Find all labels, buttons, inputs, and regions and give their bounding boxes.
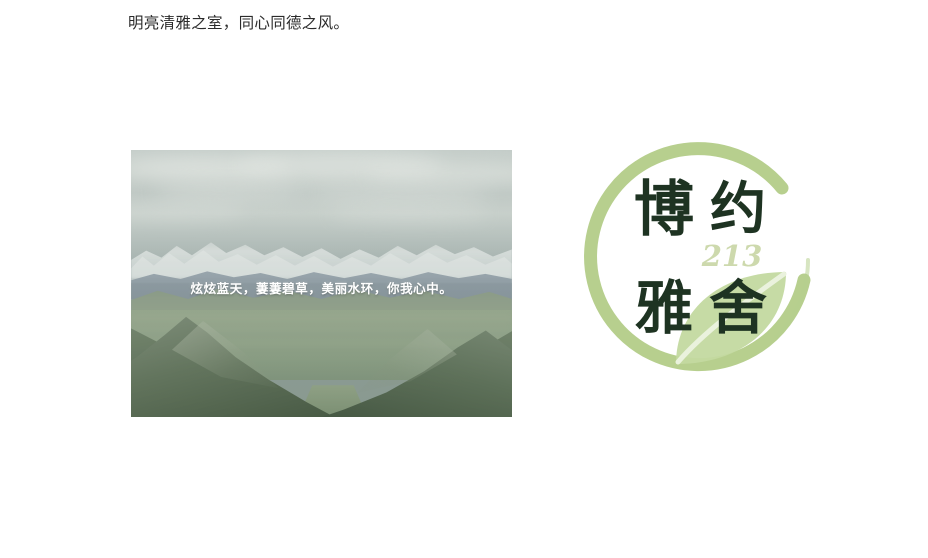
landscape-photo: 炫炫蓝天，萋萋碧草，美丽水环，你我心中。 <box>131 150 512 417</box>
logo-number-213: 213 <box>701 239 763 273</box>
photo-caption-text: 炫炫蓝天，萋萋碧草，美丽水环，你我心中。 <box>131 278 512 297</box>
brand-logo: 博 约 雅 舍 213 <box>572 132 828 386</box>
cloud-shape <box>306 186 489 203</box>
logo-char-ya: 雅 <box>635 274 693 342</box>
page-title: 明亮清雅之室，同心同德之风。 <box>128 13 349 35</box>
logo-char-yue: 约 <box>710 176 766 242</box>
cloud-shape <box>329 208 489 221</box>
logo-char-she: 舍 <box>709 274 767 342</box>
logo-char-bo: 博 <box>634 175 694 245</box>
cloud-shape <box>367 163 512 183</box>
cloud-shape <box>154 183 306 200</box>
photo-canvas: 炫炫蓝天，萋萋碧草，美丽水环，你我心中。 <box>131 150 512 417</box>
cloud-shape <box>131 205 245 218</box>
logo-svg: 博 约 雅 舍 213 <box>572 132 828 386</box>
